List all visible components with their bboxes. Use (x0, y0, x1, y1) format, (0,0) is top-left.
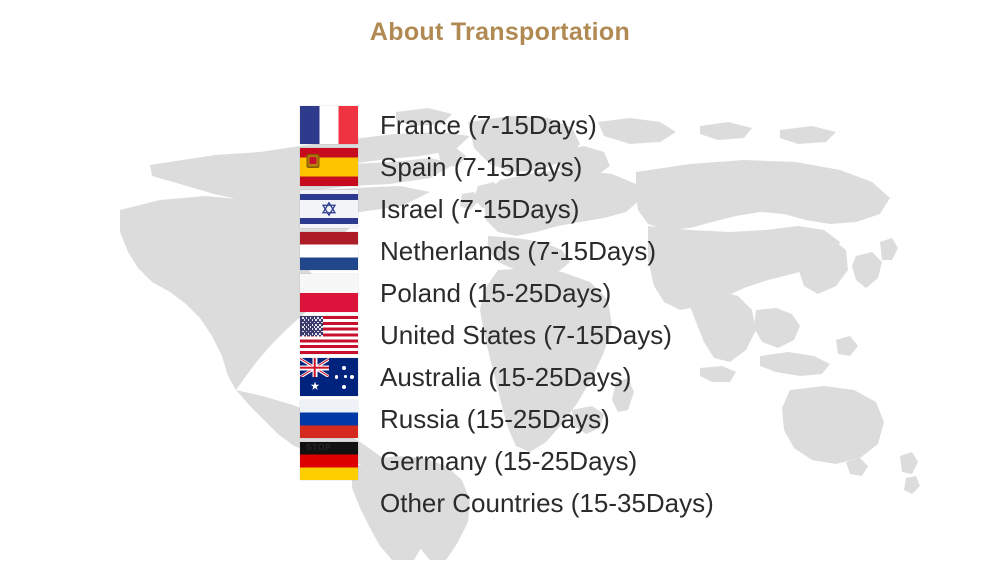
flag-cell: STOP (300, 440, 358, 482)
list-item-label: Israel (7-15Days) (380, 194, 579, 224)
page-title: About Transportation (0, 18, 1000, 47)
russia-flag (300, 400, 358, 438)
list-item-label: United States (7-15Days) (380, 320, 672, 350)
flag-cell (300, 230, 358, 272)
list-item-label: Netherlands (7-15Days) (380, 236, 656, 266)
list-item-label: France (7-15Days) (380, 110, 597, 140)
list-item: Israel (7-15Days) (300, 188, 714, 230)
southern-cross-star (344, 375, 347, 378)
usa-canton (300, 316, 323, 336)
list-item: Spain (7-15Days) (300, 146, 714, 188)
flag-cell (300, 482, 358, 524)
flag-cell (300, 188, 358, 230)
australia-flag (300, 358, 358, 396)
list-item-label: Russia (15-25Days) (380, 404, 610, 434)
southern-cross-star (342, 366, 346, 370)
united-states-flag (300, 316, 358, 354)
israel-stripe-bottom (300, 218, 358, 224)
southern-cross-star (350, 375, 354, 379)
flag-watermark: STOP (306, 443, 332, 452)
flag-cell (300, 356, 358, 398)
israel-flag (300, 190, 358, 228)
spain-coat-of-arms-icon (306, 154, 319, 168)
list-item: Netherlands (7-15Days) (300, 230, 714, 272)
list-item: Russia (15-25Days) (300, 398, 714, 440)
star-of-david-icon (322, 202, 337, 217)
list-item-label: Australia (15-25Days) (380, 362, 631, 392)
israel-stripe-top (300, 194, 358, 200)
germany-flag: STOP (300, 442, 358, 480)
list-item: United States (7-15Days) (300, 314, 714, 356)
list-item: Poland (15-25Days) (300, 272, 714, 314)
list-item-label: Poland (15-25Days) (380, 278, 611, 308)
shipping-country-list: France (7-15Days) Spain (7-15Days) (300, 104, 714, 524)
list-item-label: Germany (15-25Days) (380, 446, 637, 476)
netherlands-flag (300, 232, 358, 270)
spain-flag (300, 148, 358, 186)
flag-cell (300, 272, 358, 314)
southern-cross-star (335, 375, 339, 379)
flag-cell (300, 398, 358, 440)
southern-cross-star (342, 385, 346, 389)
commonwealth-star-icon (310, 382, 319, 391)
list-item: Australia (15-25Days) (300, 356, 714, 398)
poland-flag (300, 274, 358, 312)
france-flag (300, 106, 358, 144)
flag-cell (300, 314, 358, 356)
transportation-info-panel: About Transportation France (7-15Days) S… (0, 0, 1000, 583)
union-jack-icon (300, 358, 329, 377)
flag-cell (300, 104, 358, 146)
list-item-label: Spain (7-15Days) (380, 152, 582, 182)
list-item: France (7-15Days) (300, 104, 714, 146)
list-item: STOP Germany (15-25Days) (300, 440, 714, 482)
list-item-label: Other Countries (15-35Days) (380, 488, 714, 518)
flag-cell (300, 146, 358, 188)
list-item: Other Countries (15-35Days) (300, 482, 714, 524)
no-flag-placeholder (300, 484, 358, 522)
